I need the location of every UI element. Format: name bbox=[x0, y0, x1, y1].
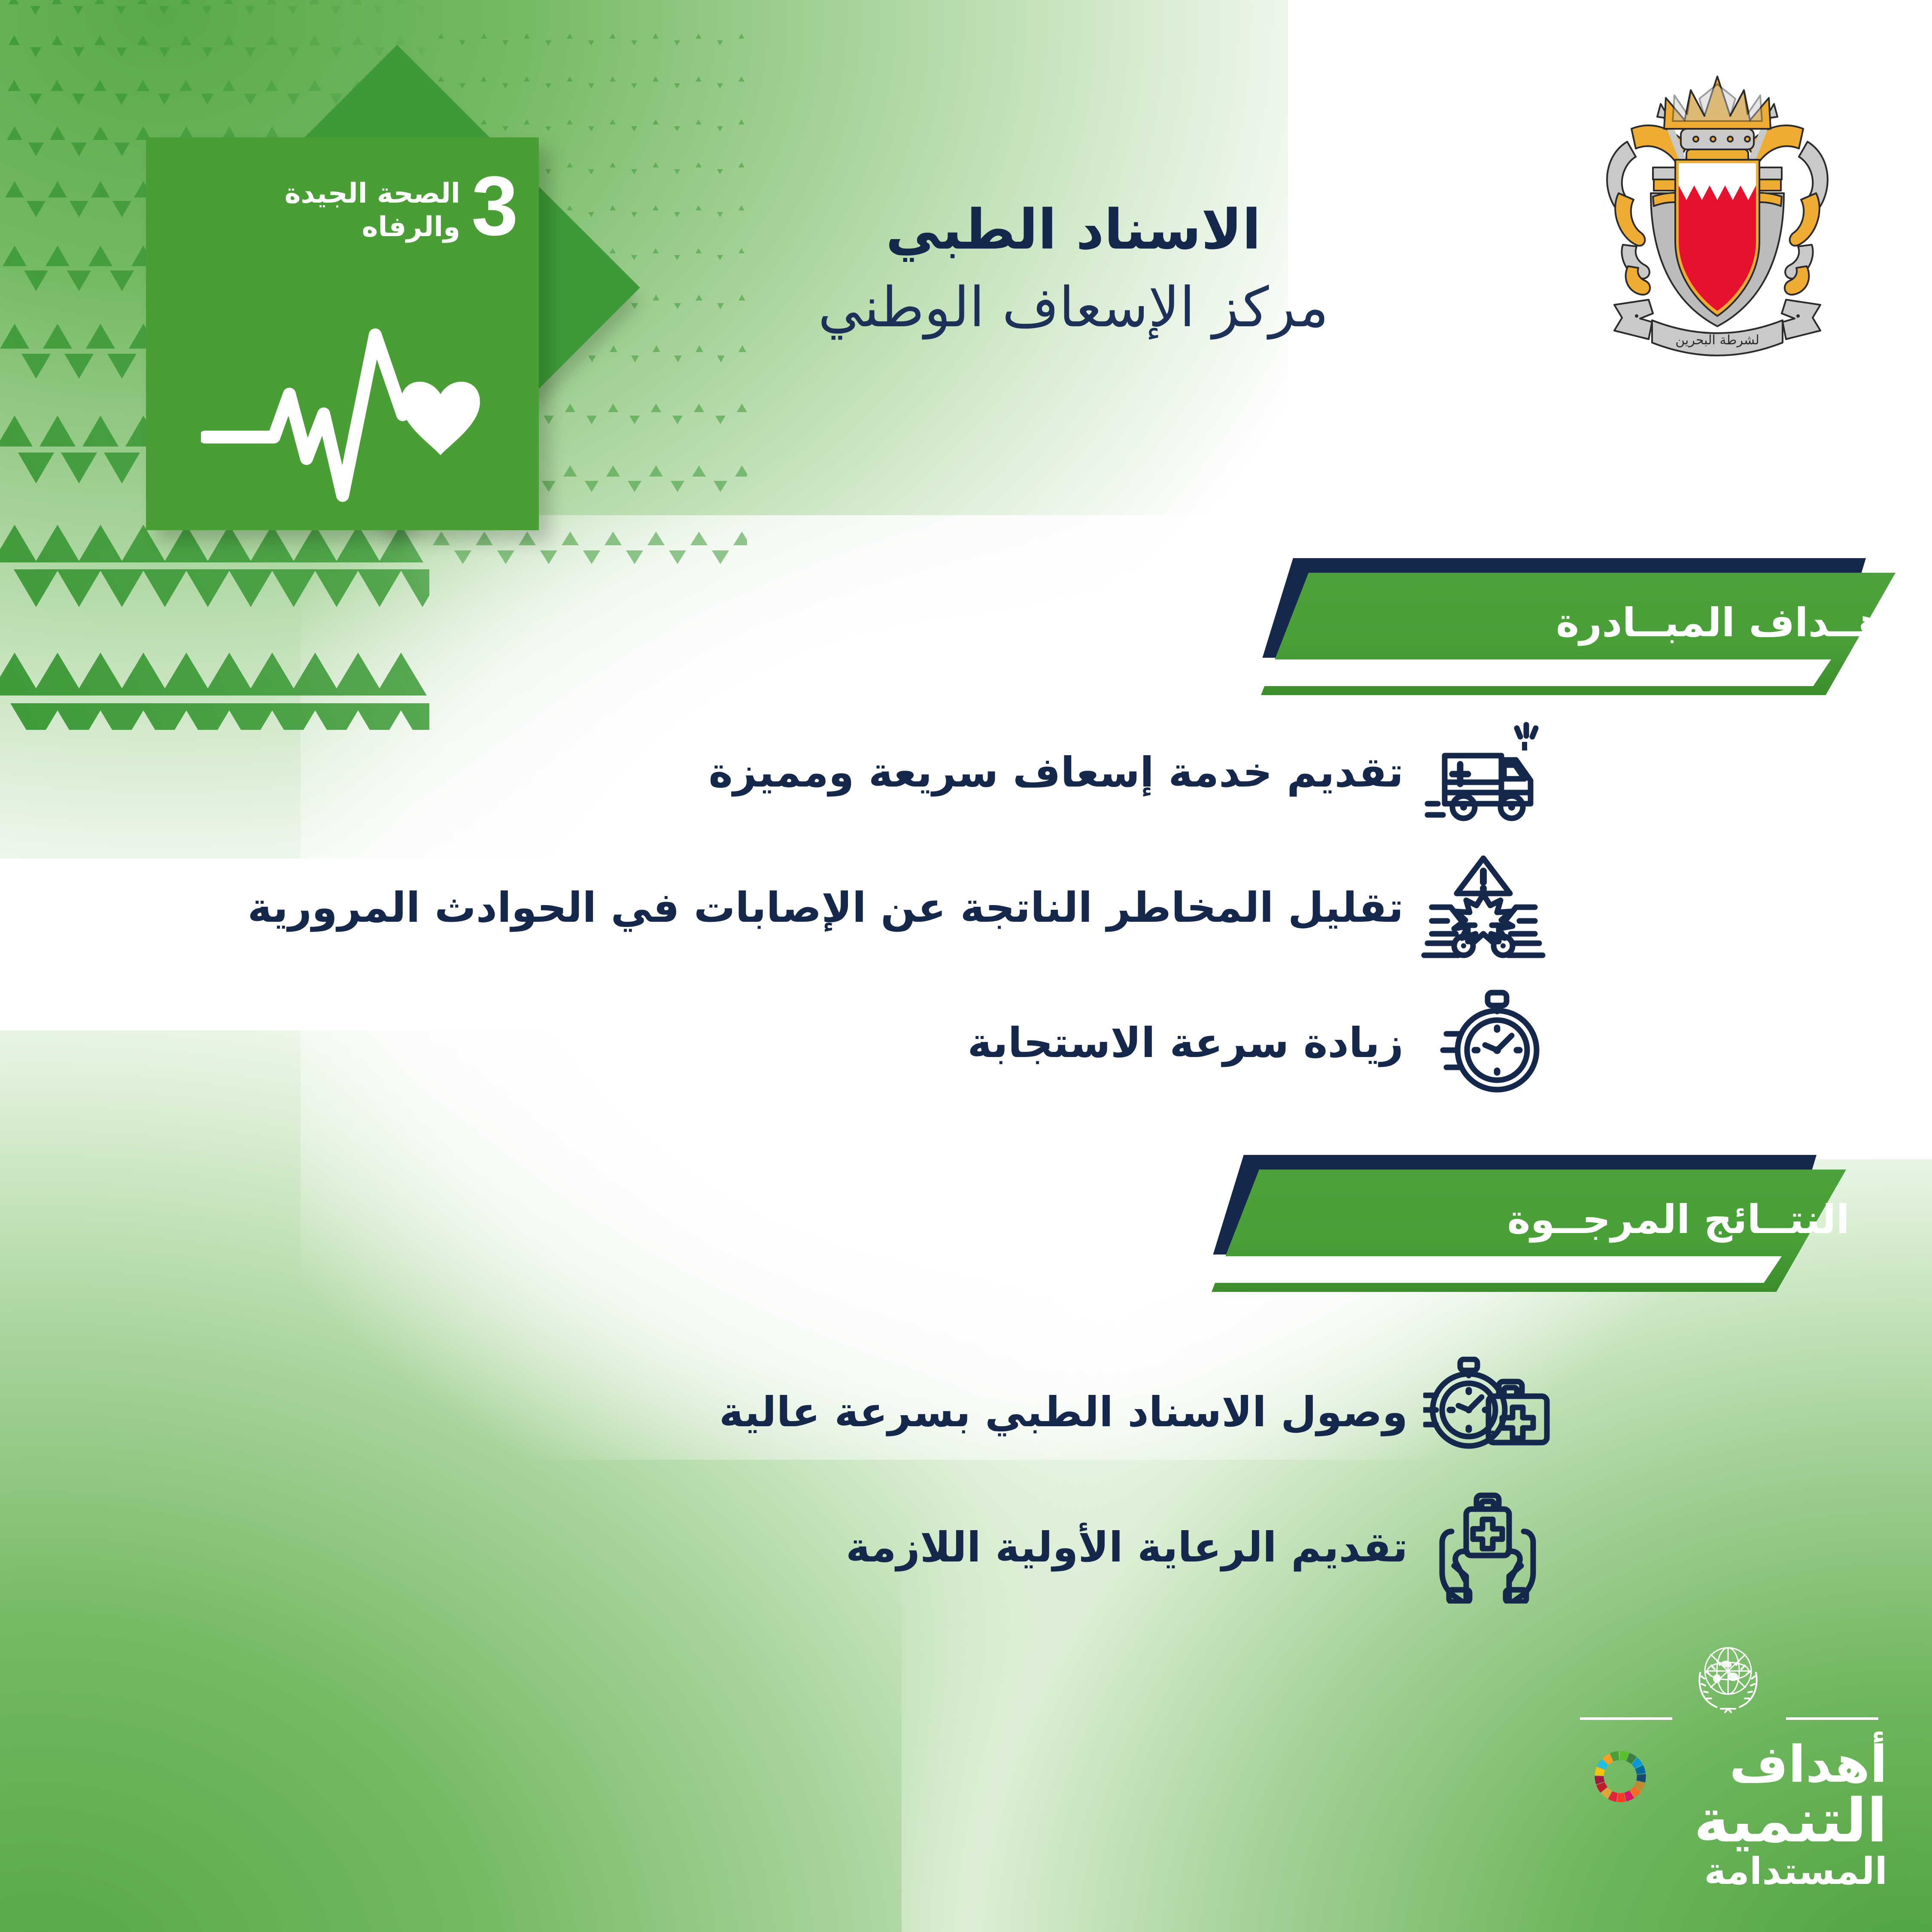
goal-item-3: زيادة سرعة الاستجابة bbox=[967, 987, 1548, 1099]
sdg-badge-header: 3 الصحة الجيدة والرفاه bbox=[276, 171, 516, 244]
hands-holding-medkit-icon bbox=[1423, 1492, 1552, 1604]
sdg-footer-line-3: المستدامة bbox=[1570, 1853, 1887, 1890]
goal-item-1-text: تقديم خدمة إسعاف سريعة ومميزة bbox=[708, 747, 1403, 798]
page-title: الاسناد الطبي bbox=[708, 197, 1438, 262]
footer-divider-right bbox=[1786, 1717, 1878, 1720]
stopwatch-icon bbox=[1419, 987, 1548, 1099]
car-crash-warning-icon bbox=[1419, 852, 1548, 964]
sdg-goal-3-badge: 3 الصحة الجيدة والرفاه bbox=[99, 56, 644, 627]
goal-item-2: تقليل المخاطر الناتجة عن الإصابات في الح… bbox=[248, 852, 1548, 964]
sdg-goal-label: الصحة الجيدة والرفاه bbox=[276, 171, 460, 244]
result-item-2-text: تقديم الرعاية الأولية اللازمة bbox=[846, 1522, 1408, 1573]
sdg-footer-logo: أهداف التنمية المستدامة bbox=[1554, 1631, 1898, 1906]
goal-item-2-text: تقليل المخاطر الناتجة عن الإصابات في الح… bbox=[248, 883, 1403, 933]
banner-label-wrapper: أهــداف المبــادرة bbox=[1234, 573, 1932, 672]
section-heading-expected-results: النتــائج المرجــوة bbox=[1185, 1155, 1846, 1292]
section-heading-text: النتــائج المرجــوة bbox=[1288, 1197, 1923, 1242]
sdg-goal-number: 3 bbox=[471, 171, 516, 242]
result-item-1: وصول الاسناد الطبي بسرعة عالية bbox=[719, 1357, 1552, 1468]
page-subtitle: مركز الإسعاف الوطني bbox=[708, 273, 1438, 342]
result-item-2: تقديم الرعاية الأولية اللازمة bbox=[846, 1492, 1552, 1604]
banner-label-wrapper: النتــائج المرجــوة bbox=[1185, 1170, 1923, 1269]
heartbeat-ecg-icon bbox=[201, 322, 484, 502]
goal-item-3-text: زيادة سرعة الاستجابة bbox=[967, 1018, 1403, 1068]
sdg-square-card: 3 الصحة الجيدة والرفاه bbox=[146, 137, 539, 530]
emblem-banner-text: لشرطة البحرين bbox=[1675, 333, 1759, 348]
section-heading-initiative-goals: أهــداف المبــادرة bbox=[1234, 558, 1896, 696]
goal-item-1: تقديم خدمة إسعاف سريعة ومميزة bbox=[708, 717, 1548, 829]
sdg-footer-line-2: التنمية bbox=[1570, 1791, 1887, 1851]
section-heading-text: أهــداف المبــادرة bbox=[1337, 600, 1932, 646]
sdg-footer-line-1: أهداف bbox=[1664, 1739, 1887, 1789]
result-item-1-text: وصول الاسناد الطبي بسرعة عالية bbox=[719, 1387, 1408, 1437]
page-title-block: الاسناد الطبي مركز الإسعاف الوطني bbox=[708, 197, 1438, 342]
stopwatch-medkit-icon bbox=[1423, 1357, 1552, 1468]
ambulance-icon bbox=[1419, 717, 1548, 829]
united-nations-emblem bbox=[1683, 1631, 1773, 1722]
bahrain-police-emblem: لشرطة البحرين bbox=[1589, 64, 1846, 374]
poster-canvas: 3 الصحة الجيدة والرفاه الاسناد الطبي مرك… bbox=[0, 0, 1932, 1932]
footer-divider-left bbox=[1580, 1717, 1672, 1720]
